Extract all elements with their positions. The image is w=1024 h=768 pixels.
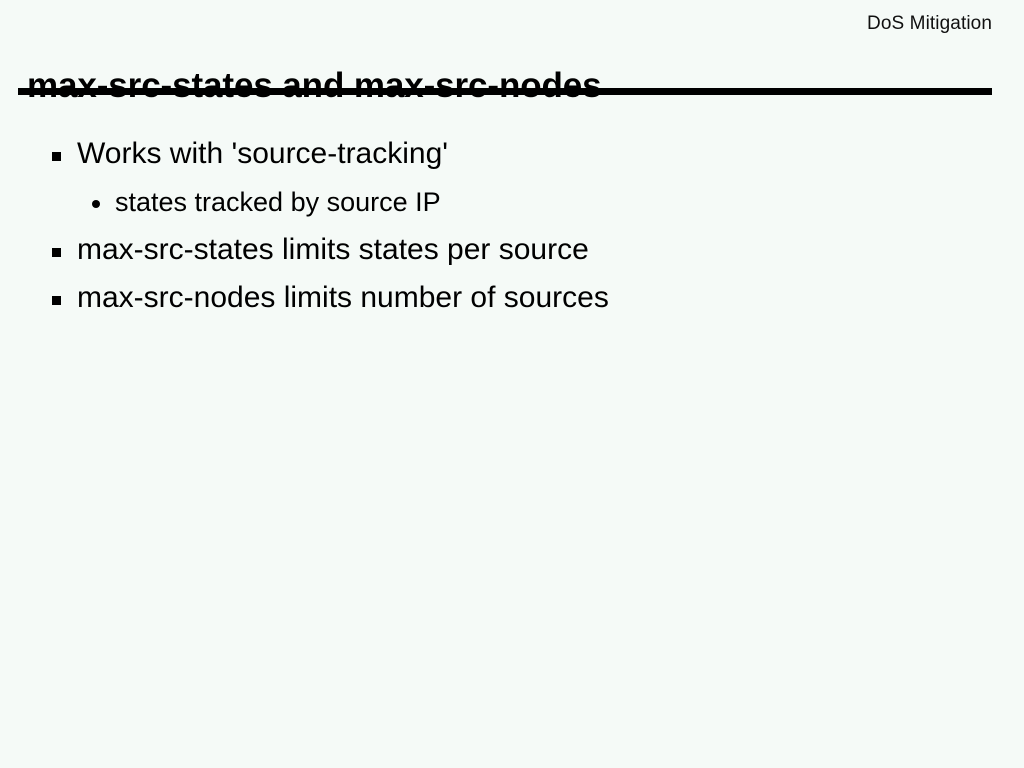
square-bullet-icon	[52, 296, 61, 305]
square-bullet-icon	[52, 152, 61, 161]
square-bullet-icon	[52, 248, 61, 257]
slide-canvas: DoS Mitigation max-src-states and max-sr…	[0, 0, 1024, 768]
list-item: states tracked by source IP	[0, 180, 1024, 228]
title-divider	[18, 88, 992, 95]
bullet-list: Works with 'source-tracking' states trac…	[0, 132, 1024, 324]
list-item: max-src-states limits states per source	[0, 228, 1024, 276]
list-item: Works with 'source-tracking'	[0, 132, 1024, 180]
slide-header-label: DoS Mitigation	[867, 12, 992, 36]
list-item-label: Works with 'source-tracking'	[77, 137, 448, 170]
page-title: max-src-states and max-src-nodes	[27, 65, 602, 107]
list-item-label: max-src-states limits states per source	[77, 233, 589, 266]
list-item: max-src-nodes limits number of sources	[0, 276, 1024, 324]
list-item-label: states tracked by source IP	[115, 187, 441, 217]
list-item-label: max-src-nodes limits number of sources	[77, 281, 609, 314]
round-bullet-icon	[92, 200, 100, 208]
